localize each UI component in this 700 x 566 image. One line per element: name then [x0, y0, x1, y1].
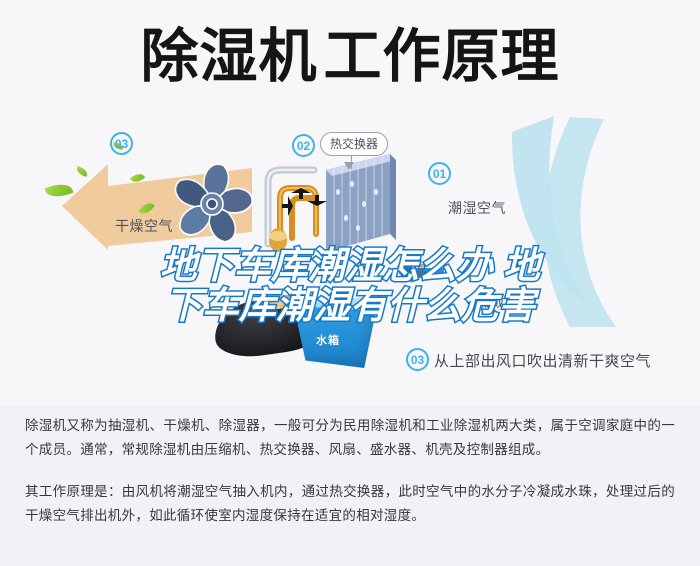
fan-illustration	[166, 156, 258, 248]
article-paragraph-1: 除湿机又称为抽湿机、干燥机、除湿器，一般可分为民用除湿机和工业除湿机两大类，属于…	[25, 414, 675, 462]
heat-exchanger-callout: 热交换器	[320, 132, 388, 156]
label-step3-text: 从上部出风口吹出清新干爽空气	[434, 350, 651, 371]
figure-title-part2: 工作原理	[324, 24, 560, 89]
label-humid-air: 潮湿空气	[448, 198, 506, 218]
figure-title: 除湿机工作原理	[0, 26, 700, 88]
step-badge-01: 01	[428, 162, 451, 185]
figure-title-part1: 除湿机	[140, 24, 317, 89]
step-badge-02: 02	[292, 134, 315, 157]
fan-blades-icon	[166, 156, 258, 248]
step-badge-03-bottom: 03	[406, 348, 429, 371]
article-page: 除湿机工作原理	[0, 0, 700, 566]
dehumidifier-principle-figure: 除湿机工作原理	[0, 0, 700, 405]
step-badge-03-left: 03	[110, 132, 133, 155]
callout-pointer-icon	[344, 162, 354, 170]
water-tank-label: 水箱	[316, 332, 340, 348]
overlay-headline-line1: 地下车库潮湿怎么办 地	[0, 246, 700, 286]
overlay-headline: 地下车库潮湿怎么办 地 下车库潮湿有什么危害	[0, 246, 700, 326]
article-body: 除湿机又称为抽湿机、干燥机、除湿器，一般可分为民用除湿机和工业除湿机两大类，属于…	[0, 414, 700, 528]
overlay-headline-line2: 下车库潮湿有什么危害	[0, 286, 700, 326]
article-paragraph-2: 其工作原理是：由风机将潮湿空气抽入机内，通过热交换器，此时空气中的水分子冷凝成水…	[25, 480, 675, 528]
label-dry-air: 干燥空气	[115, 216, 173, 236]
